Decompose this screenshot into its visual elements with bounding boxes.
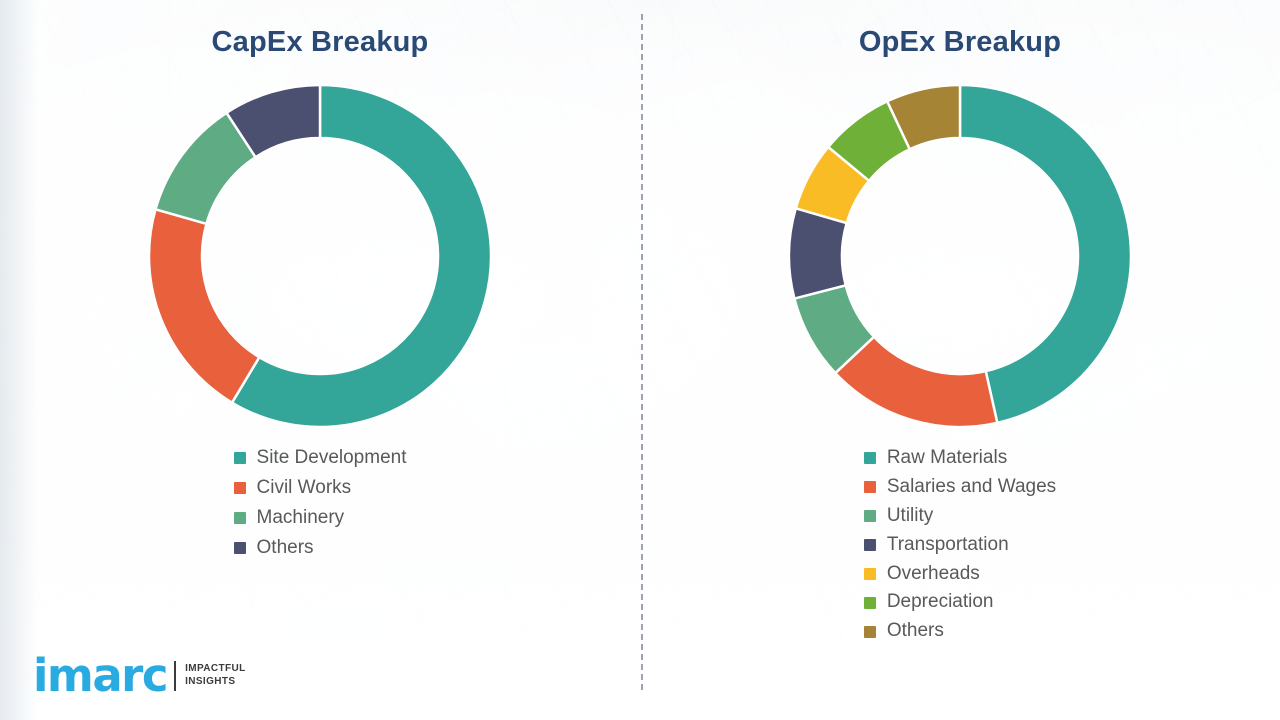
legend-item: Transportation xyxy=(864,535,1056,556)
opex-panel: OpEx Breakup Raw MaterialsSalaries and W… xyxy=(640,0,1280,720)
legend-swatch-icon xyxy=(234,512,246,524)
logo-wordmark: imarc xyxy=(33,656,167,697)
legend-item-label: Overheads xyxy=(887,564,980,585)
logo-divider xyxy=(174,661,176,691)
opex-donut-chart xyxy=(787,83,1133,429)
legend-item-label: Others xyxy=(887,621,944,642)
legend-item-label: Civil Works xyxy=(257,478,352,499)
capex-slice-group xyxy=(149,85,491,427)
legend-item: Civil Works xyxy=(234,478,407,499)
capex-legend-items: Site DevelopmentCivil WorksMachineryOthe… xyxy=(234,448,407,568)
legend-item: Utility xyxy=(864,506,1056,527)
slide-canvas: CapEx Breakup Site DevelopmentCivil Work… xyxy=(0,0,1280,720)
legend-item-label: Utility xyxy=(887,506,933,527)
logo-tagline-line2: INSIGHTS xyxy=(185,676,246,689)
capex-chart-title: CapEx Breakup xyxy=(0,26,640,59)
legend-item: Others xyxy=(234,538,407,559)
capex-legend: Site DevelopmentCivil WorksMachineryOthe… xyxy=(0,448,640,568)
legend-item: Depreciation xyxy=(864,592,1056,613)
legend-swatch-icon xyxy=(864,597,876,609)
legend-item-label: Salaries and Wages xyxy=(887,477,1056,498)
legend-item: Overheads xyxy=(864,564,1056,585)
logo-tagline-line1: IMPACTFUL xyxy=(185,663,246,676)
legend-swatch-icon xyxy=(864,626,876,638)
donut-slice xyxy=(149,209,259,402)
opex-legend-items: Raw MaterialsSalaries and WagesUtilityTr… xyxy=(864,448,1056,650)
legend-swatch-icon xyxy=(864,452,876,464)
imarc-logo: imarc IMPACTFUL INSIGHTS xyxy=(33,656,246,697)
legend-swatch-icon xyxy=(864,481,876,493)
logo-tagline: IMPACTFUL INSIGHTS xyxy=(185,663,246,688)
legend-swatch-icon xyxy=(234,542,246,554)
legend-item: Salaries and Wages xyxy=(864,477,1056,498)
legend-item-label: Transportation xyxy=(887,535,1009,556)
legend-item: Others xyxy=(864,621,1056,642)
legend-swatch-icon xyxy=(864,568,876,580)
legend-swatch-icon xyxy=(864,539,876,551)
capex-donut-svg xyxy=(147,83,493,429)
legend-item-label: Others xyxy=(257,538,314,559)
legend-item-label: Site Development xyxy=(257,448,407,469)
legend-item-label: Machinery xyxy=(257,508,345,529)
opex-legend: Raw MaterialsSalaries and WagesUtilityTr… xyxy=(640,448,1280,650)
legend-item-label: Raw Materials xyxy=(887,448,1007,469)
opex-slice-group xyxy=(789,85,1131,427)
opex-chart-title: OpEx Breakup xyxy=(640,26,1280,59)
legend-item: Raw Materials xyxy=(864,448,1056,469)
legend-swatch-icon xyxy=(234,452,246,464)
capex-donut-chart xyxy=(147,83,493,429)
legend-swatch-icon xyxy=(864,510,876,522)
capex-panel: CapEx Breakup Site DevelopmentCivil Work… xyxy=(0,0,640,720)
opex-donut-svg xyxy=(787,83,1133,429)
legend-swatch-icon xyxy=(234,482,246,494)
legend-item-label: Depreciation xyxy=(887,592,994,613)
legend-item: Machinery xyxy=(234,508,407,529)
legend-item: Site Development xyxy=(234,448,407,469)
